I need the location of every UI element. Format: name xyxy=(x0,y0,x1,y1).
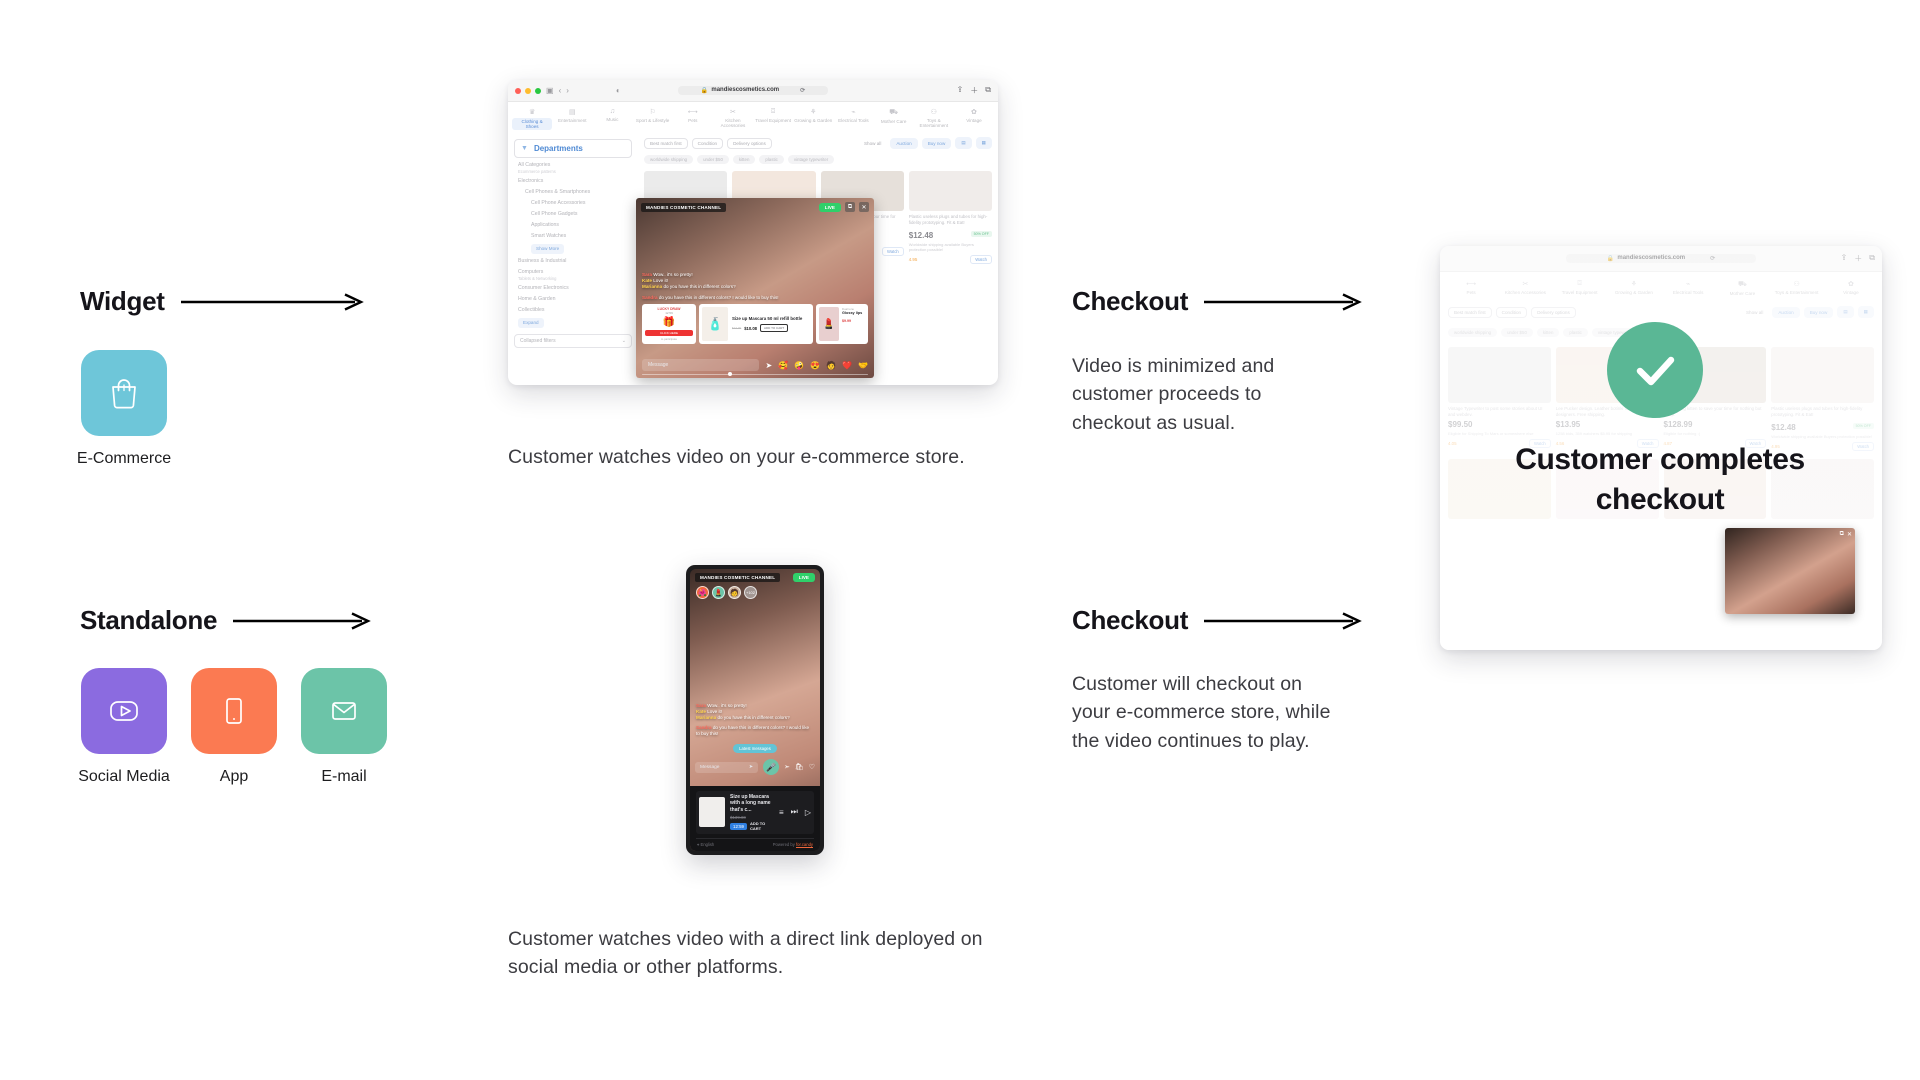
check-mark-icon xyxy=(1628,343,1682,397)
category-label: Kitchen Accessories xyxy=(721,118,746,128)
share-icon[interactable]: ⇪ xyxy=(957,85,964,96)
powered-by-label: Powered by xyxy=(773,842,795,847)
stroller-icon: ⛟ xyxy=(1715,280,1769,289)
avatar[interactable]: 💄 xyxy=(712,586,725,599)
tag-chip[interactable]: under $50 xyxy=(1501,328,1533,337)
live-badge: LIVE xyxy=(819,203,841,212)
step-header-standalone: Standalone xyxy=(80,605,373,636)
product-price: $13.95 xyxy=(1556,420,1659,429)
chrome-right-actions: ⇪ ＋ ⧉ xyxy=(957,85,991,96)
step-title-checkout-bottom: Checkout xyxy=(1072,605,1188,636)
email-tile-bg xyxy=(301,668,387,754)
video-progress-scrubber[interactable] xyxy=(642,374,868,376)
category-growing-garden[interactable]: ⚘Growing & Garden xyxy=(793,108,833,130)
category-entertainment[interactable]: ▤Entertainment xyxy=(552,108,592,130)
category-vintage[interactable]: ✿Vintage xyxy=(954,108,994,130)
phone-product-bar: Size up Mascara with a long name that's … xyxy=(690,786,820,852)
category-label: Kitchen Accessories xyxy=(1505,290,1546,295)
tag-chip[interactable]: worldwide shipping xyxy=(1448,328,1497,337)
tag-chip[interactable]: plastic xyxy=(759,155,783,164)
category-nav: ⟷Pets ✂Kitchen Accessories ⌼Travel Equip… xyxy=(1440,272,1882,300)
latest-messages-button[interactable]: Latest messages xyxy=(733,744,777,753)
category-label: Electrical Tools xyxy=(838,118,869,123)
discount-badge: 50% OFF xyxy=(971,231,992,237)
video-product-strip: LUCKY DRAW 12:59 🎁 CLICK HERE to partici… xyxy=(642,304,868,344)
message-input[interactable]: Message ➤ xyxy=(695,762,758,773)
countdown-timer: 12:59 xyxy=(730,823,747,830)
watch-button[interactable]: Watch xyxy=(970,255,992,264)
dept-item[interactable]: Applications xyxy=(518,222,628,229)
arrow-right-icon xyxy=(1204,293,1364,311)
tag-chip[interactable]: vintage typewriter xyxy=(788,155,834,164)
stroller-icon: ⛟ xyxy=(874,108,914,117)
phone-video-header: MANDIES COSMETIC CHANNEL LIVE xyxy=(690,569,820,586)
completion-headline-line1: Customer completes xyxy=(1470,440,1850,480)
next-icon[interactable]: ⏭ xyxy=(791,807,798,817)
add-to-cart-button[interactable]: ADD TO CART xyxy=(760,324,788,332)
category-kitchen-accessories[interactable]: ✂Kitchen Accessories xyxy=(713,108,753,130)
category-toys-entertainment[interactable]: ⚇Toys & Entertainment xyxy=(1770,280,1824,296)
browser-chrome: ▣ ‹ › ◐ 🔒 mandiescosmetics.com ⟳ ⇪ ＋ ⧉ xyxy=(508,80,998,102)
category-label: Clothing & Shoes xyxy=(512,118,552,130)
checkout-success-badge xyxy=(1607,322,1703,418)
chevron-down-icon: ⌄ xyxy=(622,338,626,344)
channel-label-app: App xyxy=(220,768,248,786)
widget-channel-tiles: E-Commerce xyxy=(80,350,168,468)
step-title-widget: Widget xyxy=(80,286,165,317)
phone-footer: ⌖ English Powered by for.candy xyxy=(696,838,814,847)
product-meta: Eligible for Shipping To Mars or somewhe… xyxy=(1448,431,1551,436)
reload-icon[interactable]: ⟳ xyxy=(1710,255,1715,262)
browser-mockup-desktop[interactable]: ▣ ‹ › ◐ 🔒 mandiescosmetics.com ⟳ ⇪ ＋ ⧉ ♛… xyxy=(508,80,998,385)
dept-item[interactable]: Cell Phone Accessories xyxy=(518,200,628,207)
departments-title: Departments xyxy=(534,144,583,153)
app-tile-bg xyxy=(191,668,277,754)
dept-item[interactable]: Consumer Electronics xyxy=(518,285,628,292)
filter-icon: ▼ xyxy=(521,145,528,152)
emoji-reaction[interactable]: 😍 xyxy=(810,361,820,370)
utensils-icon: ✂ xyxy=(713,108,753,116)
ecommerce-tile-bg xyxy=(81,350,167,436)
powered-by-brand[interactable]: for.candy xyxy=(796,842,813,847)
product-rating: 4.95 xyxy=(909,257,918,262)
category-label: Growing & Garden xyxy=(794,118,832,123)
phone-viewer-avatars: 🌺 💄 🧑 +102 xyxy=(690,586,820,599)
heart-icon[interactable]: ♡ xyxy=(809,763,815,771)
auction-toggle[interactable]: Auction xyxy=(1772,307,1799,318)
url-text: mandiescosmetics.com xyxy=(1617,255,1685,262)
channel-name: MANDIES COSMETIC CHANNEL xyxy=(695,573,780,582)
category-electrical-tools[interactable]: ⌁Electrical Tools xyxy=(833,108,873,130)
close-window-dot[interactable] xyxy=(515,88,521,94)
list-view-icon[interactable]: ▤ xyxy=(1837,306,1853,318)
video-overlay-header: MANDIES COSMETIC CHANNEL LIVE ⧉ ✕ xyxy=(636,198,874,216)
reload-icon[interactable]: ⟳ xyxy=(800,87,805,94)
show-all-toggle[interactable]: Show all xyxy=(1741,308,1768,317)
step-title-checkout-top: Checkout xyxy=(1072,286,1188,317)
plug-icon: ⌁ xyxy=(1661,280,1715,288)
minimized-video-pip[interactable]: ⧉ ✕ xyxy=(1725,528,1855,614)
channel-label-ecommerce: E-Commerce xyxy=(77,450,171,468)
completion-headline: Customer completes checkout xyxy=(1470,440,1850,519)
product-price: $12.48 xyxy=(1771,423,1795,432)
caption-widget-flow: Customer watches video on your e-commerc… xyxy=(508,443,1018,471)
show-more-button[interactable]: Show More xyxy=(518,244,628,254)
dept-item[interactable]: Electronics xyxy=(518,178,628,185)
picture-in-picture-icon[interactable]: ⧉ xyxy=(1840,531,1844,538)
product-meta: 1258 bids, 359 watchers $5.95 for shippi… xyxy=(1556,431,1659,436)
filter-toolbar: Best match first Condition Delivery opti… xyxy=(638,134,998,152)
category-label: Vintage xyxy=(966,118,982,123)
sort-filter[interactable]: Best match first xyxy=(644,138,688,149)
category-travel-equipment[interactable]: ⌼Travel Equipment xyxy=(1553,280,1607,296)
dept-item[interactable]: Cell Phones & Smartphones xyxy=(518,189,628,196)
envelope-icon xyxy=(322,689,366,733)
dept-item[interactable]: Collectibles xyxy=(518,307,628,314)
channel-label-social-media: Social Media xyxy=(78,768,170,786)
add-to-cart-button[interactable]: ADD TO CART xyxy=(750,821,774,831)
plus-icon[interactable]: ＋ xyxy=(970,85,978,96)
caption-checkout-bottom: Customer will checkout on your e-commerc… xyxy=(1072,670,1342,755)
back-arrow-icon[interactable]: ‹ xyxy=(559,87,562,95)
show-all-toggle[interactable]: Show all xyxy=(859,139,886,148)
buy-now-toggle[interactable]: Buy now xyxy=(1804,307,1834,318)
channel-name: MANDIES COSMETIC CHANNEL xyxy=(641,203,726,212)
tabs-icon[interactable]: ⧉ xyxy=(1869,253,1875,264)
globe-icon: ⌖ xyxy=(697,842,699,847)
live-badge: LIVE xyxy=(793,573,815,582)
step-header-checkout-top: Checkout xyxy=(1072,286,1364,317)
category-growing-garden[interactable]: ⚘Growing & Garden xyxy=(1607,280,1661,296)
category-label: Electrical Tools xyxy=(1673,290,1704,295)
video-message-bar: Message ➤ 🥰 🤪 😍 🧑 ❤️ 🤝 xyxy=(636,359,874,371)
product-image xyxy=(1771,347,1874,403)
phone-screen: MANDIES COSMETIC CHANNEL LIVE 🌺 💄 🧑 +102… xyxy=(690,569,820,851)
close-icon[interactable]: ✕ xyxy=(1847,531,1852,538)
phone-message-bar: Message ➤ 🎤 ➣ 🛍 ♡ xyxy=(695,759,815,775)
product-thumbnail xyxy=(699,797,725,827)
cart-icon[interactable]: 🛍 xyxy=(795,763,804,771)
tag-chip[interactable]: kitten xyxy=(1537,328,1560,337)
arrow-right-icon xyxy=(233,612,373,630)
browser-url-bar[interactable]: 🔒 mandiescosmetics.com ⟳ xyxy=(678,86,828,95)
step-header-checkout-bottom: Checkout xyxy=(1072,605,1364,636)
flow-diagram-canvas: Widget E-Commerce Standalone xyxy=(0,0,1920,1080)
expand-button[interactable]: Expand xyxy=(518,318,628,328)
step-header-widget: Widget xyxy=(80,286,366,317)
emoji-reaction[interactable]: 🤪 xyxy=(794,361,804,370)
category-mother-care[interactable]: ⛟Mother Care xyxy=(1715,280,1769,296)
category-label: Music xyxy=(606,117,618,122)
channel-tile-app[interactable]: App xyxy=(190,668,278,786)
product-thumbnail: 💄 xyxy=(819,307,839,341)
tag-chip[interactable]: worldwide shipping xyxy=(644,155,693,164)
dept-item[interactable]: All Categories Ecommerce patterns xyxy=(518,162,628,174)
category-label: Pets xyxy=(688,118,697,123)
channel-label-email: E-mail xyxy=(321,768,366,786)
category-label: Travel Equipment xyxy=(1562,290,1598,295)
sidebar-icon[interactable]: ▣ xyxy=(546,87,554,95)
tag-chip[interactable]: kitten xyxy=(733,155,756,164)
utensils-icon: ✂ xyxy=(1498,280,1552,288)
product-thumbnail: 🧴 xyxy=(702,307,728,341)
play-icon[interactable]: ▷ xyxy=(805,808,811,817)
avatar-overflow-count[interactable]: +102 xyxy=(744,586,757,599)
url-text: mandiescosmetics.com xyxy=(711,87,779,94)
watch-button[interactable]: Watch xyxy=(882,247,904,256)
buy-now-toggle[interactable]: Buy now xyxy=(922,138,952,149)
step-title-standalone: Standalone xyxy=(80,605,217,636)
grid-view-icon[interactable]: ▦ xyxy=(976,137,992,149)
video-product-card[interactable]: 🧴 Size up Mascara 50 ml refill bottle $1… xyxy=(699,304,813,344)
contrast-icon[interactable]: ◐ xyxy=(616,87,621,95)
watch-button[interactable]: Watch xyxy=(1852,442,1874,451)
category-music[interactable]: ♫Music xyxy=(592,108,632,130)
window-controls[interactable] xyxy=(515,88,541,94)
plug-icon: ⌁ xyxy=(833,108,873,116)
departments-list: All Categories Ecommerce patterns Electr… xyxy=(508,162,638,328)
plant-icon: ⚘ xyxy=(793,108,833,116)
product-meta: Worldwide shipping available Buyers prot… xyxy=(909,242,992,252)
category-pets[interactable]: ⟷Pets xyxy=(1444,280,1498,296)
list-view-icon[interactable]: ▤ xyxy=(955,137,971,149)
channel-tile-social-media[interactable]: Social Media xyxy=(80,668,168,786)
shirt-icon: ♛ xyxy=(512,108,552,116)
phone-mockup[interactable]: MANDIES COSMETIC CHANNEL LIVE 🌺 💄 🧑 +102… xyxy=(686,565,824,855)
ticket-icon: ▤ xyxy=(552,108,592,116)
collapsed-filters-select[interactable]: Collapsed filters ⌄ xyxy=(514,334,632,348)
bone-icon: ⟷ xyxy=(1444,280,1498,288)
share-icon[interactable]: ⇪ xyxy=(1841,253,1848,264)
send-icon[interactable]: ➤ xyxy=(749,765,753,770)
video-play-icon xyxy=(102,689,146,733)
product-image xyxy=(909,171,992,211)
dept-item[interactable]: Home & Garden xyxy=(518,296,628,303)
plus-icon[interactable]: ＋ xyxy=(1854,253,1862,264)
arrow-right-icon xyxy=(1204,612,1364,630)
message-input[interactable]: Message xyxy=(642,359,759,371)
phone-product-card[interactable]: Size up Mascara with a long name that's … xyxy=(696,791,814,835)
minimize-window-dot[interactable] xyxy=(525,88,531,94)
product-old-price: $139.00 xyxy=(730,815,746,820)
plant-icon: ⚘ xyxy=(1607,280,1661,288)
product-price: $99.50 xyxy=(1448,420,1551,429)
vintage-icon: ✿ xyxy=(1824,280,1878,288)
category-label: Entertainment xyxy=(558,118,587,123)
condition-filter[interactable]: Condition xyxy=(692,138,723,149)
product-description: Plastic useless plugs and tubes for high… xyxy=(1771,406,1874,418)
category-label: Vintage xyxy=(1843,290,1859,295)
phone-chat-list: Sara Wow.. it's so pretty! Kate Love it!… xyxy=(696,703,814,755)
sport-icon: ⚐ xyxy=(633,108,673,116)
dept-item[interactable]: Cell Phone Gadgets xyxy=(518,211,628,218)
category-label: Pets xyxy=(1467,290,1476,295)
chat-message: Sandra do you have this in different col… xyxy=(696,725,814,737)
tabs-icon[interactable]: ⧉ xyxy=(985,85,991,96)
forward-arrow-icon[interactable]: › xyxy=(566,87,569,95)
backpack-icon: ⌼ xyxy=(1553,280,1607,288)
delivery-filter[interactable]: Delivery options xyxy=(727,138,772,149)
browser-url-bar[interactable]: 🔒 mandiescosmetics.com ⟳ xyxy=(1566,254,1756,263)
shopping-bag-icon xyxy=(104,373,144,413)
emoji-reaction[interactable]: 🥰 xyxy=(778,361,788,370)
language-label[interactable]: English xyxy=(701,842,715,847)
product-meta: Worldwide shipping available Buyers prot… xyxy=(1771,434,1874,439)
lipstick-product-card[interactable]: 💄 Dual tone Glossy lips $9.99 xyxy=(816,304,868,344)
product-image xyxy=(1448,347,1551,403)
lucky-draw-card[interactable]: LUCKY DRAW 12:59 🎁 CLICK HERE to partici… xyxy=(642,304,696,344)
tag-chip[interactable]: plastic xyxy=(1563,328,1587,337)
grid-view-icon[interactable]: ▦ xyxy=(1858,306,1874,318)
close-icon[interactable]: ✕ xyxy=(859,202,869,212)
category-label: Toys & Entertainment xyxy=(920,118,949,128)
category-label: Toys & Entertainment xyxy=(1775,290,1819,295)
music-note-icon: ♫ xyxy=(592,108,632,115)
browser-chrome: 🔒 mandiescosmetics.com ⟳ ⇪ ＋ ⧉ xyxy=(1440,246,1882,272)
category-label: Mother Care xyxy=(1730,291,1756,296)
caption-checkout-top: Video is minimized and customer proceeds… xyxy=(1072,352,1342,437)
product-description: Vintage Typewriter to post some stories … xyxy=(1448,406,1551,418)
category-toys-entertainment[interactable]: ⚇Toys & Entertainment xyxy=(914,108,954,130)
completion-headline-line2: checkout xyxy=(1470,480,1850,520)
send-icon[interactable]: ➤ xyxy=(765,361,772,370)
dept-item[interactable]: Business & Industrial xyxy=(518,258,628,265)
live-video-overlay[interactable]: MANDIES COSMETIC CHANNEL LIVE ⧉ ✕ Sara W… xyxy=(636,198,874,378)
dept-item[interactable]: Smart Watches xyxy=(518,233,628,240)
avatar[interactable]: 🌺 xyxy=(696,586,709,599)
category-electrical-tools[interactable]: ⌁Electrical Tools xyxy=(1661,280,1715,296)
microphone-icon[interactable]: 🎤 xyxy=(763,759,779,775)
sort-filter[interactable]: Best match first xyxy=(1448,307,1492,318)
product-rating: 4.05 xyxy=(1448,441,1457,446)
maximize-window-dot[interactable] xyxy=(535,88,541,94)
category-kitchen-accessories[interactable]: ✂Kitchen Accessories xyxy=(1498,280,1552,296)
vintage-icon: ✿ xyxy=(954,108,994,116)
category-label: Sport & Lifestyle xyxy=(636,118,669,123)
category-nav: ♛ Clothing & Shoes ▤Entertainment ♫Music… xyxy=(508,102,998,134)
category-sport-lifestyle[interactable]: ⚐Sport & Lifestyle xyxy=(633,108,673,130)
category-label: Growing & Garden xyxy=(1615,290,1653,295)
product-price: $128.99 xyxy=(1664,420,1767,429)
playlist-icon[interactable]: ≡ xyxy=(779,808,784,817)
emoji-reaction[interactable]: 🤝 xyxy=(858,361,868,370)
lock-icon: 🔒 xyxy=(701,87,708,94)
chat-message: Marianna do you have this in different c… xyxy=(696,715,814,721)
category-mother-care[interactable]: ⛟Mother Care xyxy=(874,108,914,130)
toy-icon: ⚇ xyxy=(1770,280,1824,288)
auction-toggle[interactable]: Auction xyxy=(890,138,917,149)
category-travel-equipment[interactable]: ⌼Travel Equipment xyxy=(753,108,793,130)
lock-icon: 🔒 xyxy=(1607,255,1614,262)
picture-in-picture-icon[interactable]: ⧉ xyxy=(845,202,855,212)
arrow-right-icon xyxy=(181,293,366,311)
condition-filter[interactable]: Condition xyxy=(1496,307,1527,318)
bone-icon: ⟷ xyxy=(673,108,713,116)
tag-chip[interactable]: under $50 xyxy=(697,155,729,164)
product-meta: Eligible for nothing :( xyxy=(1664,431,1767,436)
filter-toolbar: Best match first Condition Delivery opti… xyxy=(1440,300,1882,324)
share-icon[interactable]: ➣ xyxy=(784,763,790,771)
dept-item[interactable]: Computers Tablets & Networking xyxy=(518,269,628,281)
standalone-channel-tiles: Social Media App E-mail xyxy=(80,668,388,786)
category-vintage[interactable]: ✿Vintage xyxy=(1824,280,1878,296)
social-tile-bg xyxy=(81,668,167,754)
product-card[interactable]: Plastic useless plugs and tubes for high… xyxy=(1771,347,1874,451)
chrome-right-actions: ⇪ ＋ ⧉ xyxy=(1841,253,1875,264)
product-title: Size up Mascara with a long name that's … xyxy=(730,794,774,814)
product-description: Plastic useless plugs and tubes for high… xyxy=(909,214,992,226)
product-card[interactable]: Vintage Typewriter to post some stories … xyxy=(1448,347,1551,451)
category-label: Travel Equipment xyxy=(755,118,791,123)
category-clothing-shoes[interactable]: ♛ Clothing & Shoes xyxy=(512,108,552,130)
caption-standalone-flow: Customer watches video with a direct lin… xyxy=(508,925,1028,982)
delivery-filter[interactable]: Delivery options xyxy=(1531,307,1576,318)
channel-tile-ecommerce[interactable]: E-Commerce xyxy=(80,350,168,468)
avatar[interactable]: 🧑 xyxy=(728,586,741,599)
product-price: $12.48 xyxy=(909,231,933,240)
departments-header[interactable]: ▼ Departments xyxy=(514,139,632,158)
mobile-phone-icon xyxy=(212,689,256,733)
tag-row: worldwide shipping under $50 kitten plas… xyxy=(638,152,998,167)
chat-message: Marianna do you have this in different c… xyxy=(642,284,868,290)
gift-icon: 🎁 xyxy=(645,317,693,328)
emoji-reaction[interactable]: 🧑 xyxy=(826,361,836,370)
emoji-reaction[interactable]: ❤️ xyxy=(842,361,852,370)
category-pets[interactable]: ⟷Pets xyxy=(673,108,713,130)
product-card[interactable]: Plastic useless plugs and tubes for high… xyxy=(909,171,992,264)
category-label: Mother Care xyxy=(881,119,907,124)
channel-tile-email[interactable]: E-mail xyxy=(300,668,388,786)
discount-badge: 50% OFF xyxy=(1853,423,1874,429)
backpack-icon: ⌼ xyxy=(753,108,793,116)
departments-sidebar: ▼ Departments All Categories Ecommerce p… xyxy=(508,134,638,348)
toy-icon: ⚇ xyxy=(914,108,954,116)
